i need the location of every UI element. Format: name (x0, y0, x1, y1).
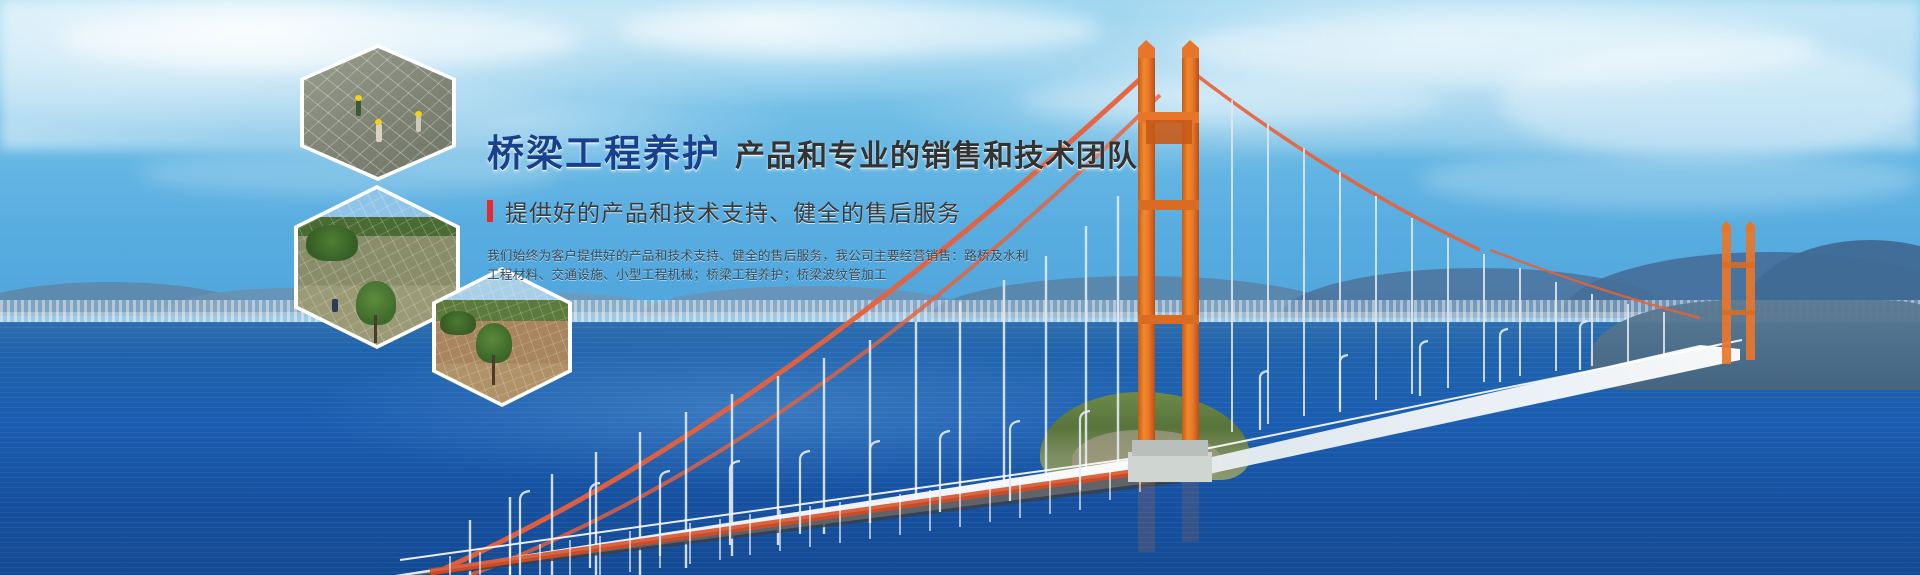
headline-secondary: 产品和专业的销售和技术团队 (735, 131, 1138, 175)
headline-row: 桥梁工程养护 产品和专业的销售和技术团队 (487, 123, 1047, 177)
hero-banner: 桥梁工程养护 产品和专业的销售和技术团队 提供好的产品和技术支持、健全的售后服务… (0, 0, 1920, 575)
cloud-streak (60, 10, 580, 70)
worker-helmet (375, 119, 382, 125)
worker-helmet (355, 95, 362, 101)
tree-trunk (374, 315, 377, 343)
body-line-1: 我们始终为客户提供好的产品和技术支持、健全的售后服务，我公司主要经营销售：路桥及… (487, 247, 1047, 266)
subtitle-row: 提供好的产品和技术支持、健全的售后服务 (487, 194, 1047, 228)
banner-text-block: 桥梁工程养护 产品和专业的销售和技术团队 提供好的产品和技术支持、健全的售后服务… (487, 123, 1047, 285)
tree-trunk (492, 355, 495, 385)
tree-shrub (306, 225, 358, 261)
cloud-streak (620, 4, 1100, 56)
worker-figure (332, 299, 338, 312)
worker-figure (356, 100, 361, 116)
headline-primary: 桥梁工程养护 (487, 123, 721, 177)
worker-figure (376, 124, 382, 142)
shrub (440, 311, 476, 335)
photo-rock-slope (304, 48, 452, 177)
right-shore-island (1590, 300, 1920, 390)
cloud-streak (1020, 80, 1440, 124)
cloud-streak (1420, 150, 1920, 210)
banner-body-text: 我们始终为客户提供好的产品和技术支持、健全的售后服务，我公司主要经营销售：路桥及… (487, 247, 1047, 285)
cloud-streak (1500, 40, 1920, 160)
subtitle-text: 提供好的产品和技术支持、健全的售后服务 (505, 194, 961, 228)
accent-bar-icon (487, 200, 493, 222)
worker-helmet (415, 111, 422, 117)
body-line-2: 工程材料、交通设施、小型工程机械；桥梁工程养护；桥梁波纹管加工 (487, 266, 1047, 285)
worker-figure (416, 116, 421, 132)
